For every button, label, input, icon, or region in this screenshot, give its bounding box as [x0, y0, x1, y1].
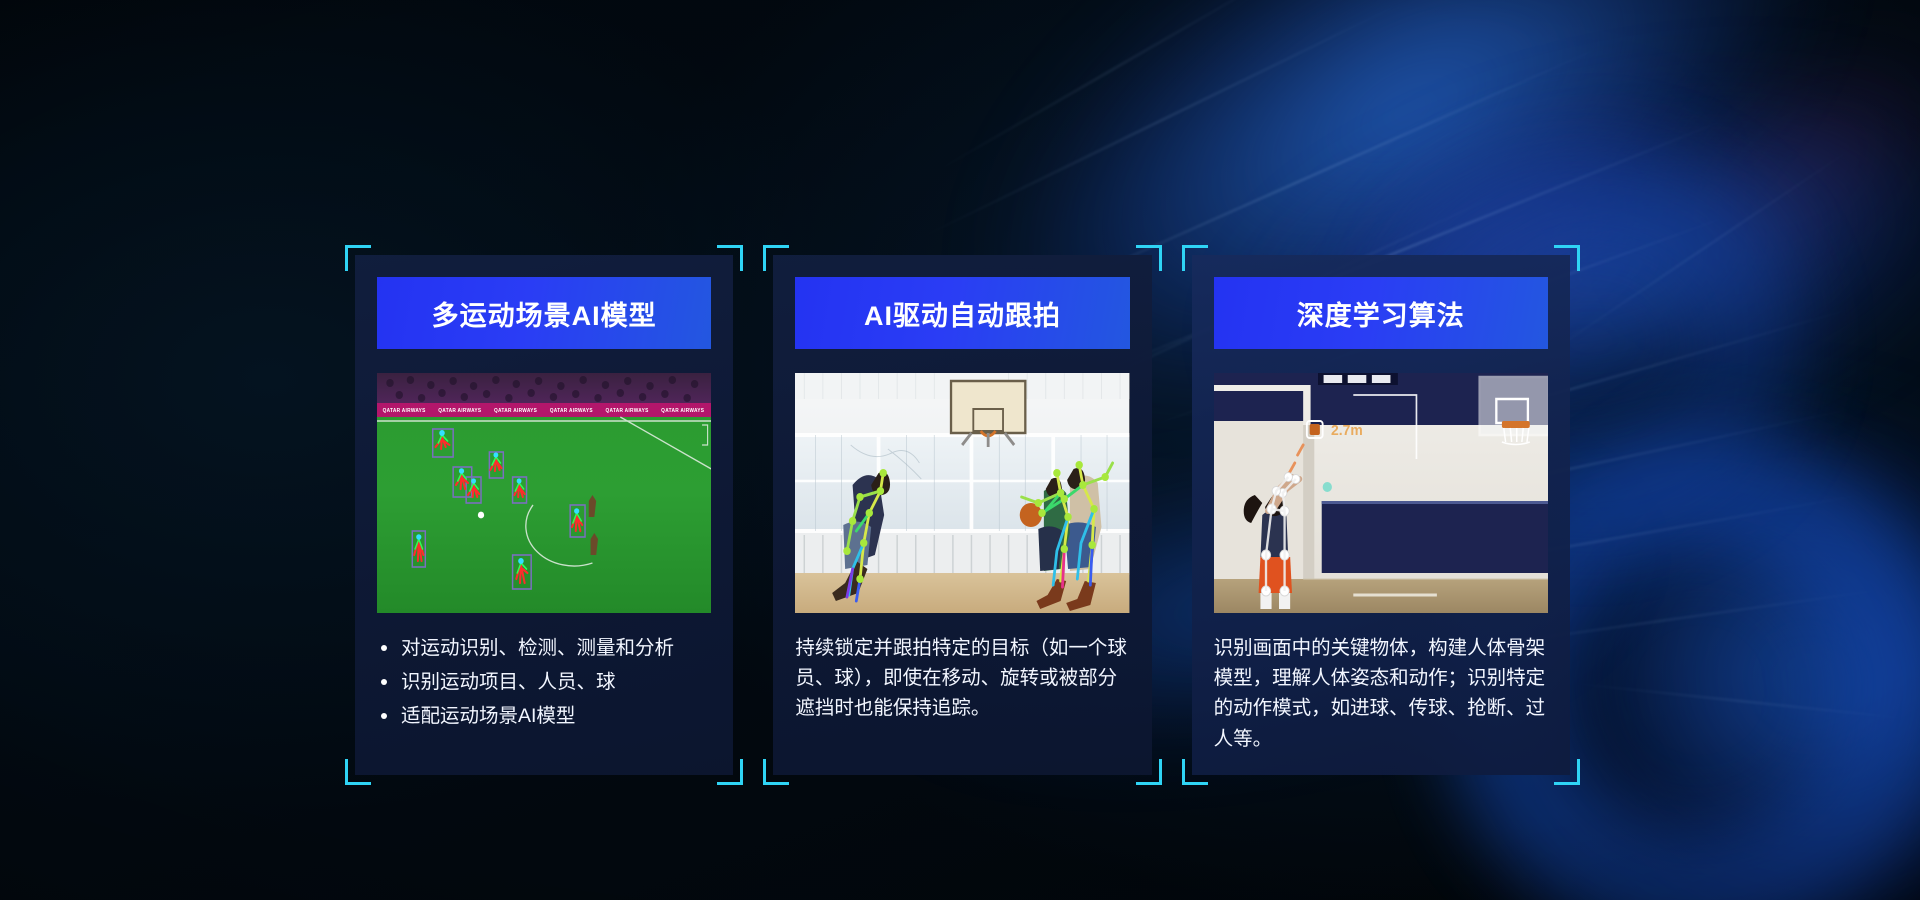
card-body-1: 对运动识别、检测、测量和分析 识别运动项目、人员、球 适配运动场景AI模型 — [377, 633, 711, 753]
card-media-shot-trajectory: 2.7m — [1214, 373, 1548, 613]
basketball-pose-illustration — [795, 373, 1129, 613]
card-title-1: 多运动场景AI模型 — [377, 277, 711, 349]
card-paragraph: 持续锁定并跟拍特定的目标（如一个球员、球），即使在移动、旋转或被部分遮挡时也能保… — [795, 633, 1129, 724]
feature-card-multi-sport-model[interactable]: 多运动场景AI模型 — [355, 255, 733, 775]
list-item: 对运动识别、检测、测量和分析 — [377, 633, 711, 663]
feature-card-grid: 多运动场景AI模型 — [355, 255, 1570, 775]
list-item: 适配运动场景AI模型 — [377, 701, 711, 731]
svg-text:QATAR AIRWAYS: QATAR AIRWAYS — [383, 408, 426, 414]
svg-text:QATAR AIRWAYS: QATAR AIRWAYS — [550, 408, 593, 414]
card-paragraph: 识别画面中的关键物体，构建人体骨架模型，理解人体姿态和动作；识别特定的动作模式，… — [1214, 633, 1548, 754]
card-media-basketball-tracking — [795, 373, 1129, 613]
card-body-2: 持续锁定并跟拍特定的目标（如一个球员、球），即使在移动、旋转或被部分遮挡时也能保… — [795, 633, 1129, 753]
card-body-3: 识别画面中的关键物体，构建人体骨架模型，理解人体姿态和动作；识别特定的动作模式，… — [1214, 633, 1548, 754]
svg-text:QATAR AIRWAYS: QATAR AIRWAYS — [438, 408, 481, 414]
soccer-detection-illustration: QATAR AIRWAYS QATAR AIRWAYS QATAR AIRWAY… — [377, 373, 711, 613]
card-title-3: 深度学习算法 — [1214, 277, 1548, 349]
card-media-soccer-detection: QATAR AIRWAYS QATAR AIRWAYS QATAR AIRWAY… — [377, 373, 711, 613]
shot-trajectory-illustration: 2.7m — [1214, 373, 1548, 613]
trajectory-distance-label: 2.7m — [1331, 423, 1363, 440]
feature-card-deep-learning[interactable]: 深度学习算法 — [1192, 255, 1570, 775]
card-title-2: AI驱动自动跟拍 — [795, 277, 1129, 349]
svg-text:QATAR AIRWAYS: QATAR AIRWAYS — [494, 408, 537, 414]
svg-text:QATAR AIRWAYS: QATAR AIRWAYS — [661, 408, 704, 414]
feature-card-ai-auto-tracking[interactable]: AI驱动自动跟拍 — [773, 255, 1151, 775]
list-item: 识别运动项目、人员、球 — [377, 667, 711, 697]
svg-text:QATAR AIRWAYS: QATAR AIRWAYS — [605, 408, 648, 414]
feature-bullet-list: 对运动识别、检测、测量和分析 识别运动项目、人员、球 适配运动场景AI模型 — [377, 633, 711, 732]
